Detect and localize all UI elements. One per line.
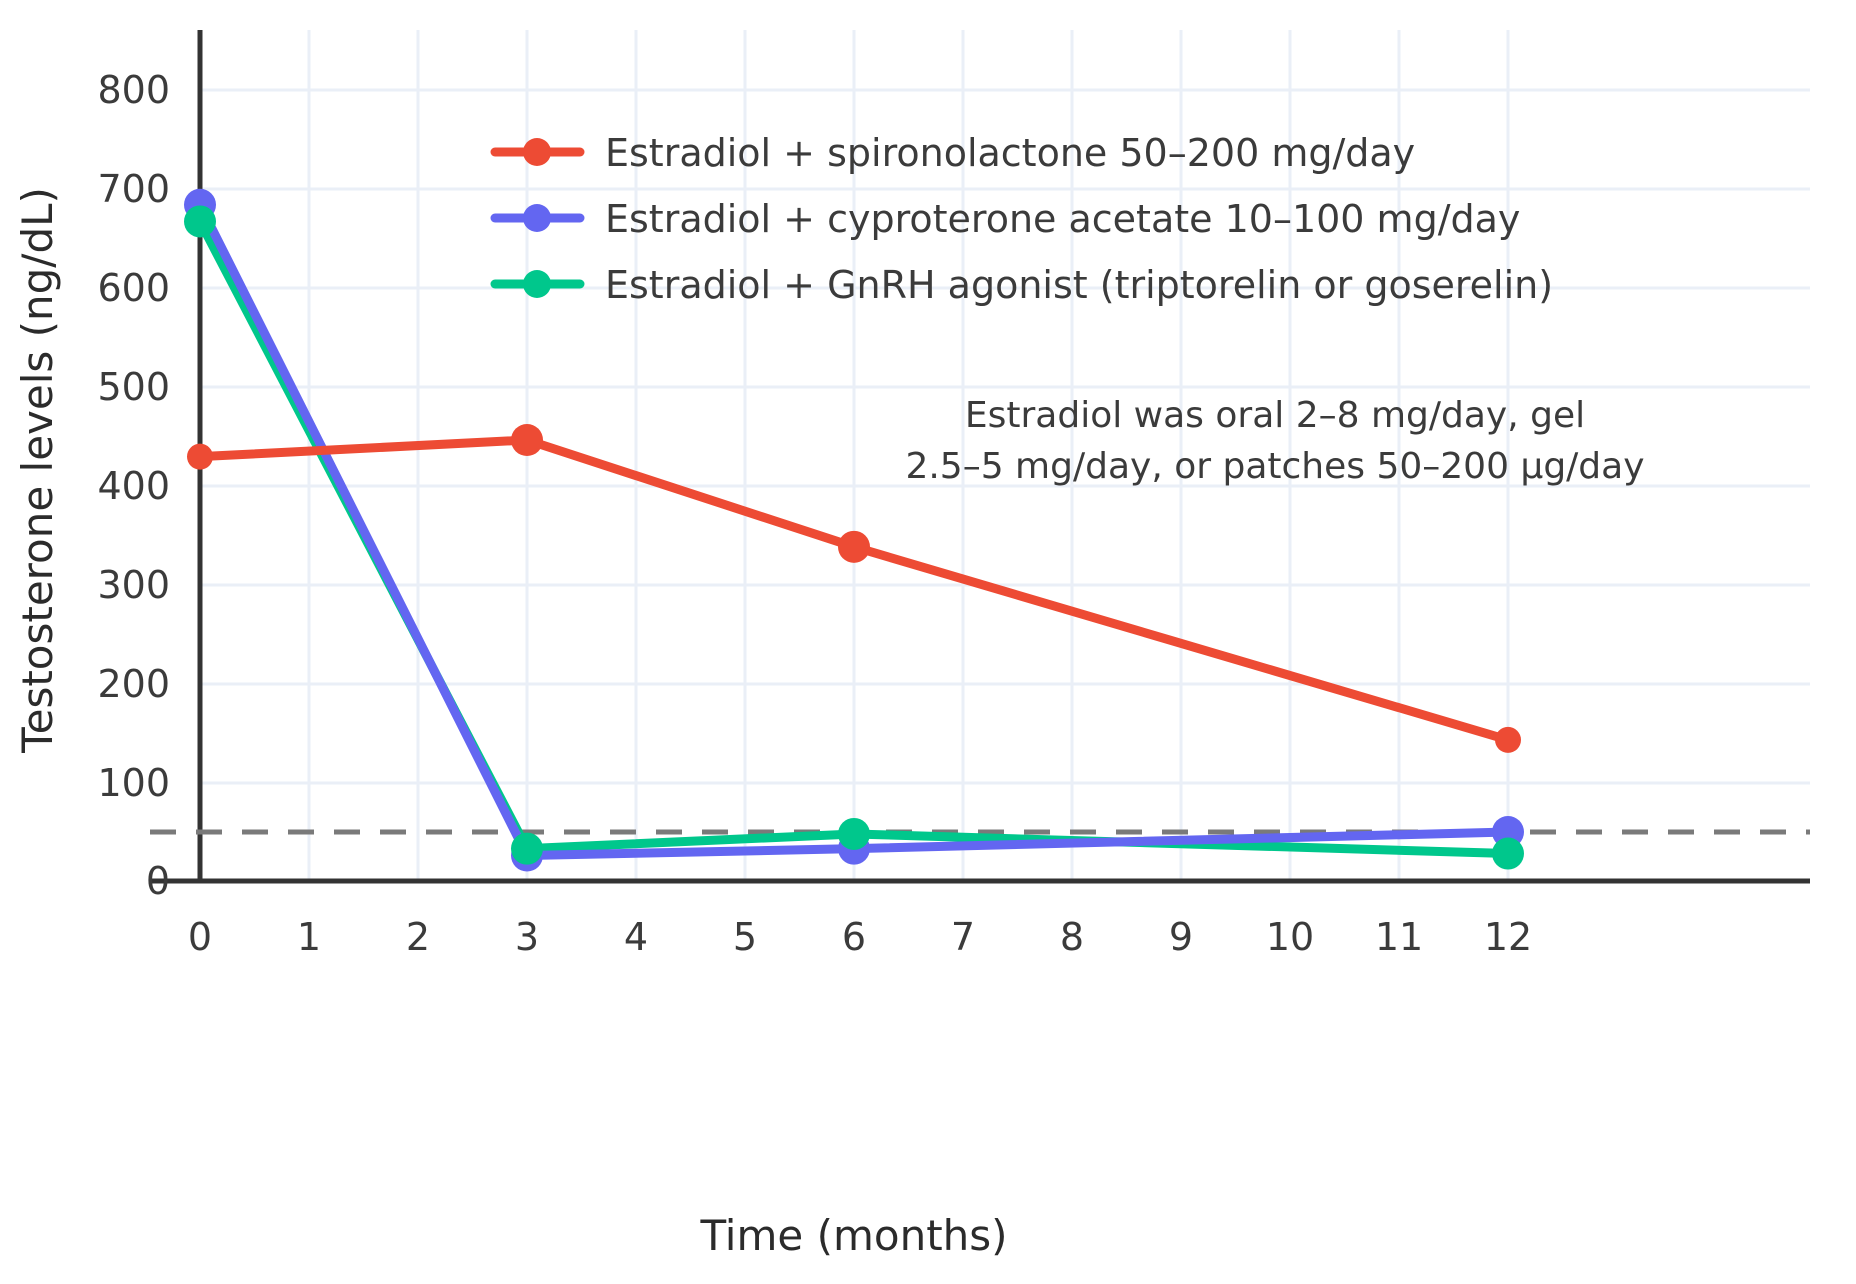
y-tick-labels: 0 100 200 300 400 500 600 700 800 (97, 68, 170, 903)
data-point-spironolactone-month-3 (511, 424, 543, 456)
legend-label-gnrh: Estradiol + GnRH agonist (triptorelin or… (605, 263, 1553, 307)
y-tick-label-100: 100 (97, 761, 170, 805)
estradiol-dose-annotation: Estradiol was oral 2–8 mg/day, gel 2.5–5… (905, 395, 1644, 487)
x-tick-label-11: 11 (1375, 915, 1423, 959)
annotation-line-1: Estradiol was oral 2–8 mg/day, gel (965, 395, 1585, 436)
x-tick-label-5: 5 (733, 915, 757, 959)
y-tick-label-0: 0 (146, 859, 170, 903)
legend-label-cyproterone: Estradiol + cyproterone acetate 10–100 m… (605, 197, 1520, 241)
chart-figure: 0 100 200 300 400 500 600 700 800 0 1 2 … (0, 0, 1856, 1284)
x-tick-label-7: 7 (951, 915, 975, 959)
x-tick-label-4: 4 (624, 915, 648, 959)
data-point-gnrh-agonist-month-6 (838, 818, 870, 850)
x-tick-label-3: 3 (515, 915, 539, 959)
x-tick-label-1: 1 (297, 915, 321, 959)
data-point-spironolactone-month-0 (187, 444, 213, 470)
y-tick-label-400: 400 (97, 464, 170, 508)
y-tick-label-800: 800 (97, 68, 170, 112)
x-tick-labels: 0 1 2 3 4 5 6 7 8 9 10 11 12 (188, 915, 1532, 959)
x-tick-label-12: 12 (1484, 915, 1532, 959)
annotation-line-2: 2.5–5 mg/day, or patches 50–200 µg/day (905, 446, 1644, 487)
x-tick-label-0: 0 (188, 915, 212, 959)
data-point-spironolactone-month-12 (1495, 727, 1521, 753)
legend-swatch-marker-cyproterone (523, 204, 551, 232)
x-tick-label-8: 8 (1060, 915, 1084, 959)
line-chart-canvas: 0 100 200 300 400 500 600 700 800 0 1 2 … (0, 0, 1856, 1284)
legend-swatch-marker-gnrh (523, 270, 551, 298)
y-tick-label-500: 500 (97, 365, 170, 409)
x-tick-label-10: 10 (1266, 915, 1314, 959)
x-tick-label-2: 2 (406, 915, 430, 959)
data-point-gnrh-agonist-month-12 (1492, 838, 1524, 870)
data-point-gnrh-agonist-month-0 (184, 205, 216, 237)
y-tick-label-300: 300 (97, 563, 170, 607)
legend: Estradiol + spironolactone 50–200 mg/day… (495, 131, 1553, 307)
x-axis-title: Time (months) (699, 1211, 1007, 1260)
legend-swatch-marker-spironolactone (523, 138, 551, 166)
y-tick-label-600: 600 (97, 266, 170, 310)
legend-label-spironolactone: Estradiol + spironolactone 50–200 mg/day (605, 131, 1415, 175)
data-point-spironolactone-month-6 (838, 531, 870, 563)
y-tick-label-200: 200 (97, 662, 170, 706)
y-axis-title: Testosterone levels (ng/dL) (13, 187, 62, 754)
data-point-gnrh-agonist-month-3 (511, 833, 543, 865)
y-tick-label-700: 700 (97, 167, 170, 211)
x-tick-label-9: 9 (1169, 915, 1193, 959)
x-tick-label-6: 6 (842, 915, 866, 959)
